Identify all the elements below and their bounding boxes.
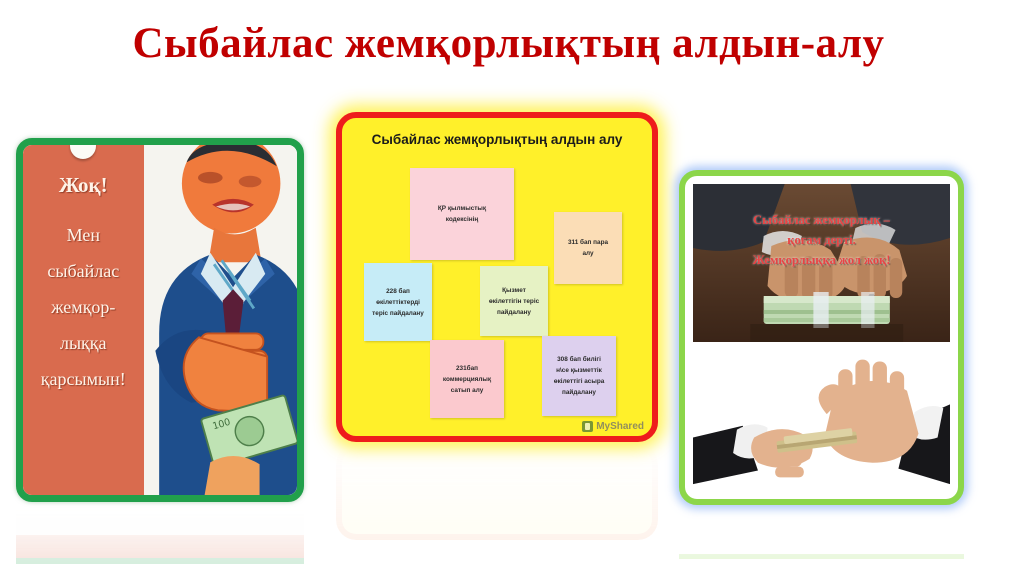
diagram-node-code[interactable]: ҚР қылмыстық кодексінің — [410, 168, 514, 260]
money-handover-photo: Сыбайлас жемқорлық – қоғам дерті. Жемқор… — [693, 184, 950, 342]
diagram-node-central[interactable]: Қызмет өкілеттігін теріс пайдалану — [480, 266, 548, 336]
center-diagram-reflection — [336, 444, 658, 540]
diagram-title: Сыбайлас жемқорлықтың алдын алу — [342, 132, 652, 147]
poster-headline: Жоқ! — [23, 173, 144, 198]
diagram-node-308[interactable]: 308 бап билігі н\се қызметтік өкілеттігі… — [542, 336, 616, 416]
diagram-node-231[interactable]: 231бап коммерциялық сатып алу — [430, 340, 504, 418]
right-poster-frame[interactable]: Сыбайлас жемқорлық – қоғам дерті. Жемқор… — [679, 170, 964, 505]
poster-hook-icon — [70, 138, 96, 159]
right-poster-reflection — [679, 509, 964, 559]
poster-overlay-text: Сыбайлас жемқорлық – қоғам дерті. Жемқор… — [693, 210, 950, 270]
poster-body-text: Мен сыбайлас жемқор- лыққа қарсымын! — [23, 217, 144, 397]
left-poster-text-panel: Жоқ! Мен сыбайлас жемқор- лыққа қарсымын… — [23, 145, 144, 495]
diagram-node-228[interactable]: 228 бап өкілеттіктерді теріс пайдалану — [364, 263, 432, 341]
center-diagram-frame[interactable]: Сыбайлас жемқорлықтың алдын алу ҚР қылмы… — [336, 112, 658, 442]
diagram-node-311[interactable]: 311 бап пара алу — [554, 212, 622, 284]
left-poster-image: Жоқ! Мен сыбайлас жемқор- лыққа қарсымын… — [23, 145, 297, 495]
bribe-refusal-photo — [693, 344, 950, 491]
refusing-man-illustration: 100 — [144, 145, 297, 495]
page-title: Сыбайлас жемқорлықтың алдын-алу — [0, 18, 1017, 70]
myshared-logo-icon — [582, 421, 593, 432]
left-poster-frame[interactable]: Жоқ! Мен сыбайлас жемқор- лыққа қарсымын… — [16, 138, 304, 502]
left-poster-reflection — [16, 506, 304, 564]
myshared-label: MyShared — [596, 421, 644, 432]
myshared-watermark: MyShared — [582, 421, 644, 432]
